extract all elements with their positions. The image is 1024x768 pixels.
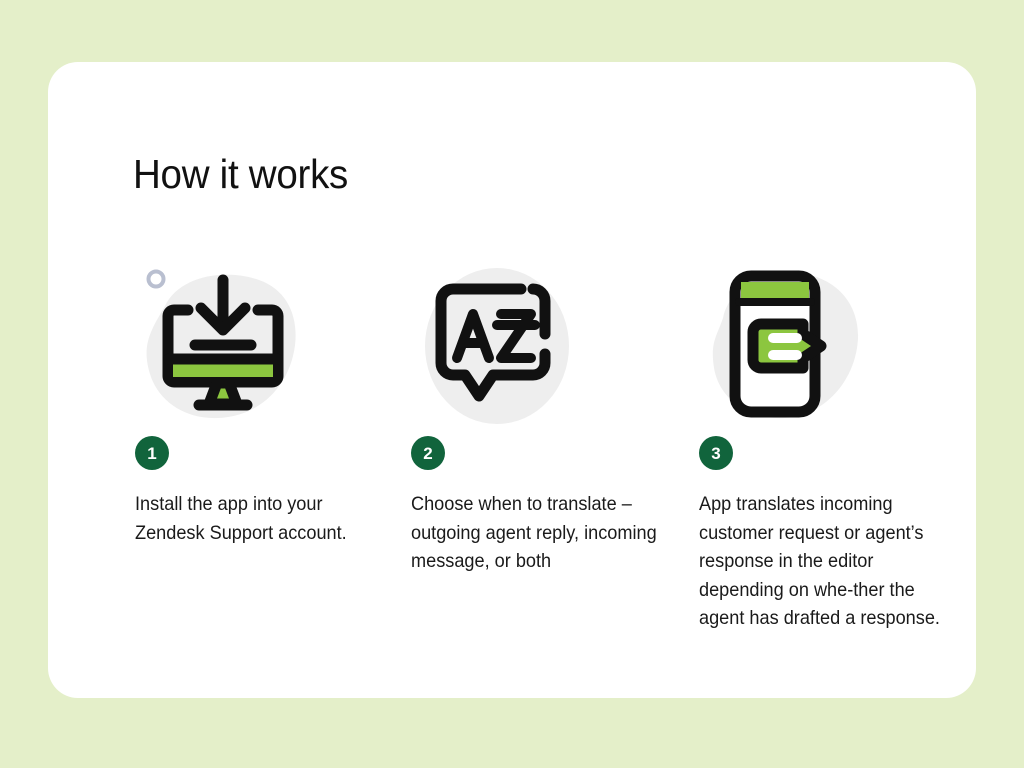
- step-item-2: 2 Choose when to translate – outgoing ag…: [409, 262, 665, 427]
- step-number-badge-2: 2: [411, 436, 445, 470]
- monitor-download-icon: [133, 262, 313, 427]
- slide-canvas: How it works: [0, 0, 1024, 768]
- step-number-badge-3: 3: [699, 436, 733, 470]
- step-item-1: 1 Install the app into your Zendesk Supp…: [133, 262, 383, 427]
- step-item-3: 3 App translates incoming customer reque…: [697, 262, 945, 427]
- page-title: How it works: [133, 152, 348, 197]
- step-description-3: App translates incoming customer request…: [699, 490, 945, 633]
- mobile-message-icon: [697, 262, 877, 427]
- step-description-2: Choose when to translate – outgoing agen…: [411, 490, 668, 576]
- step-number-badge-1: 1: [135, 436, 169, 470]
- translate-speech-bubble-icon: [409, 262, 589, 427]
- step-description-1: Install the app into your Zendesk Suppor…: [135, 490, 368, 547]
